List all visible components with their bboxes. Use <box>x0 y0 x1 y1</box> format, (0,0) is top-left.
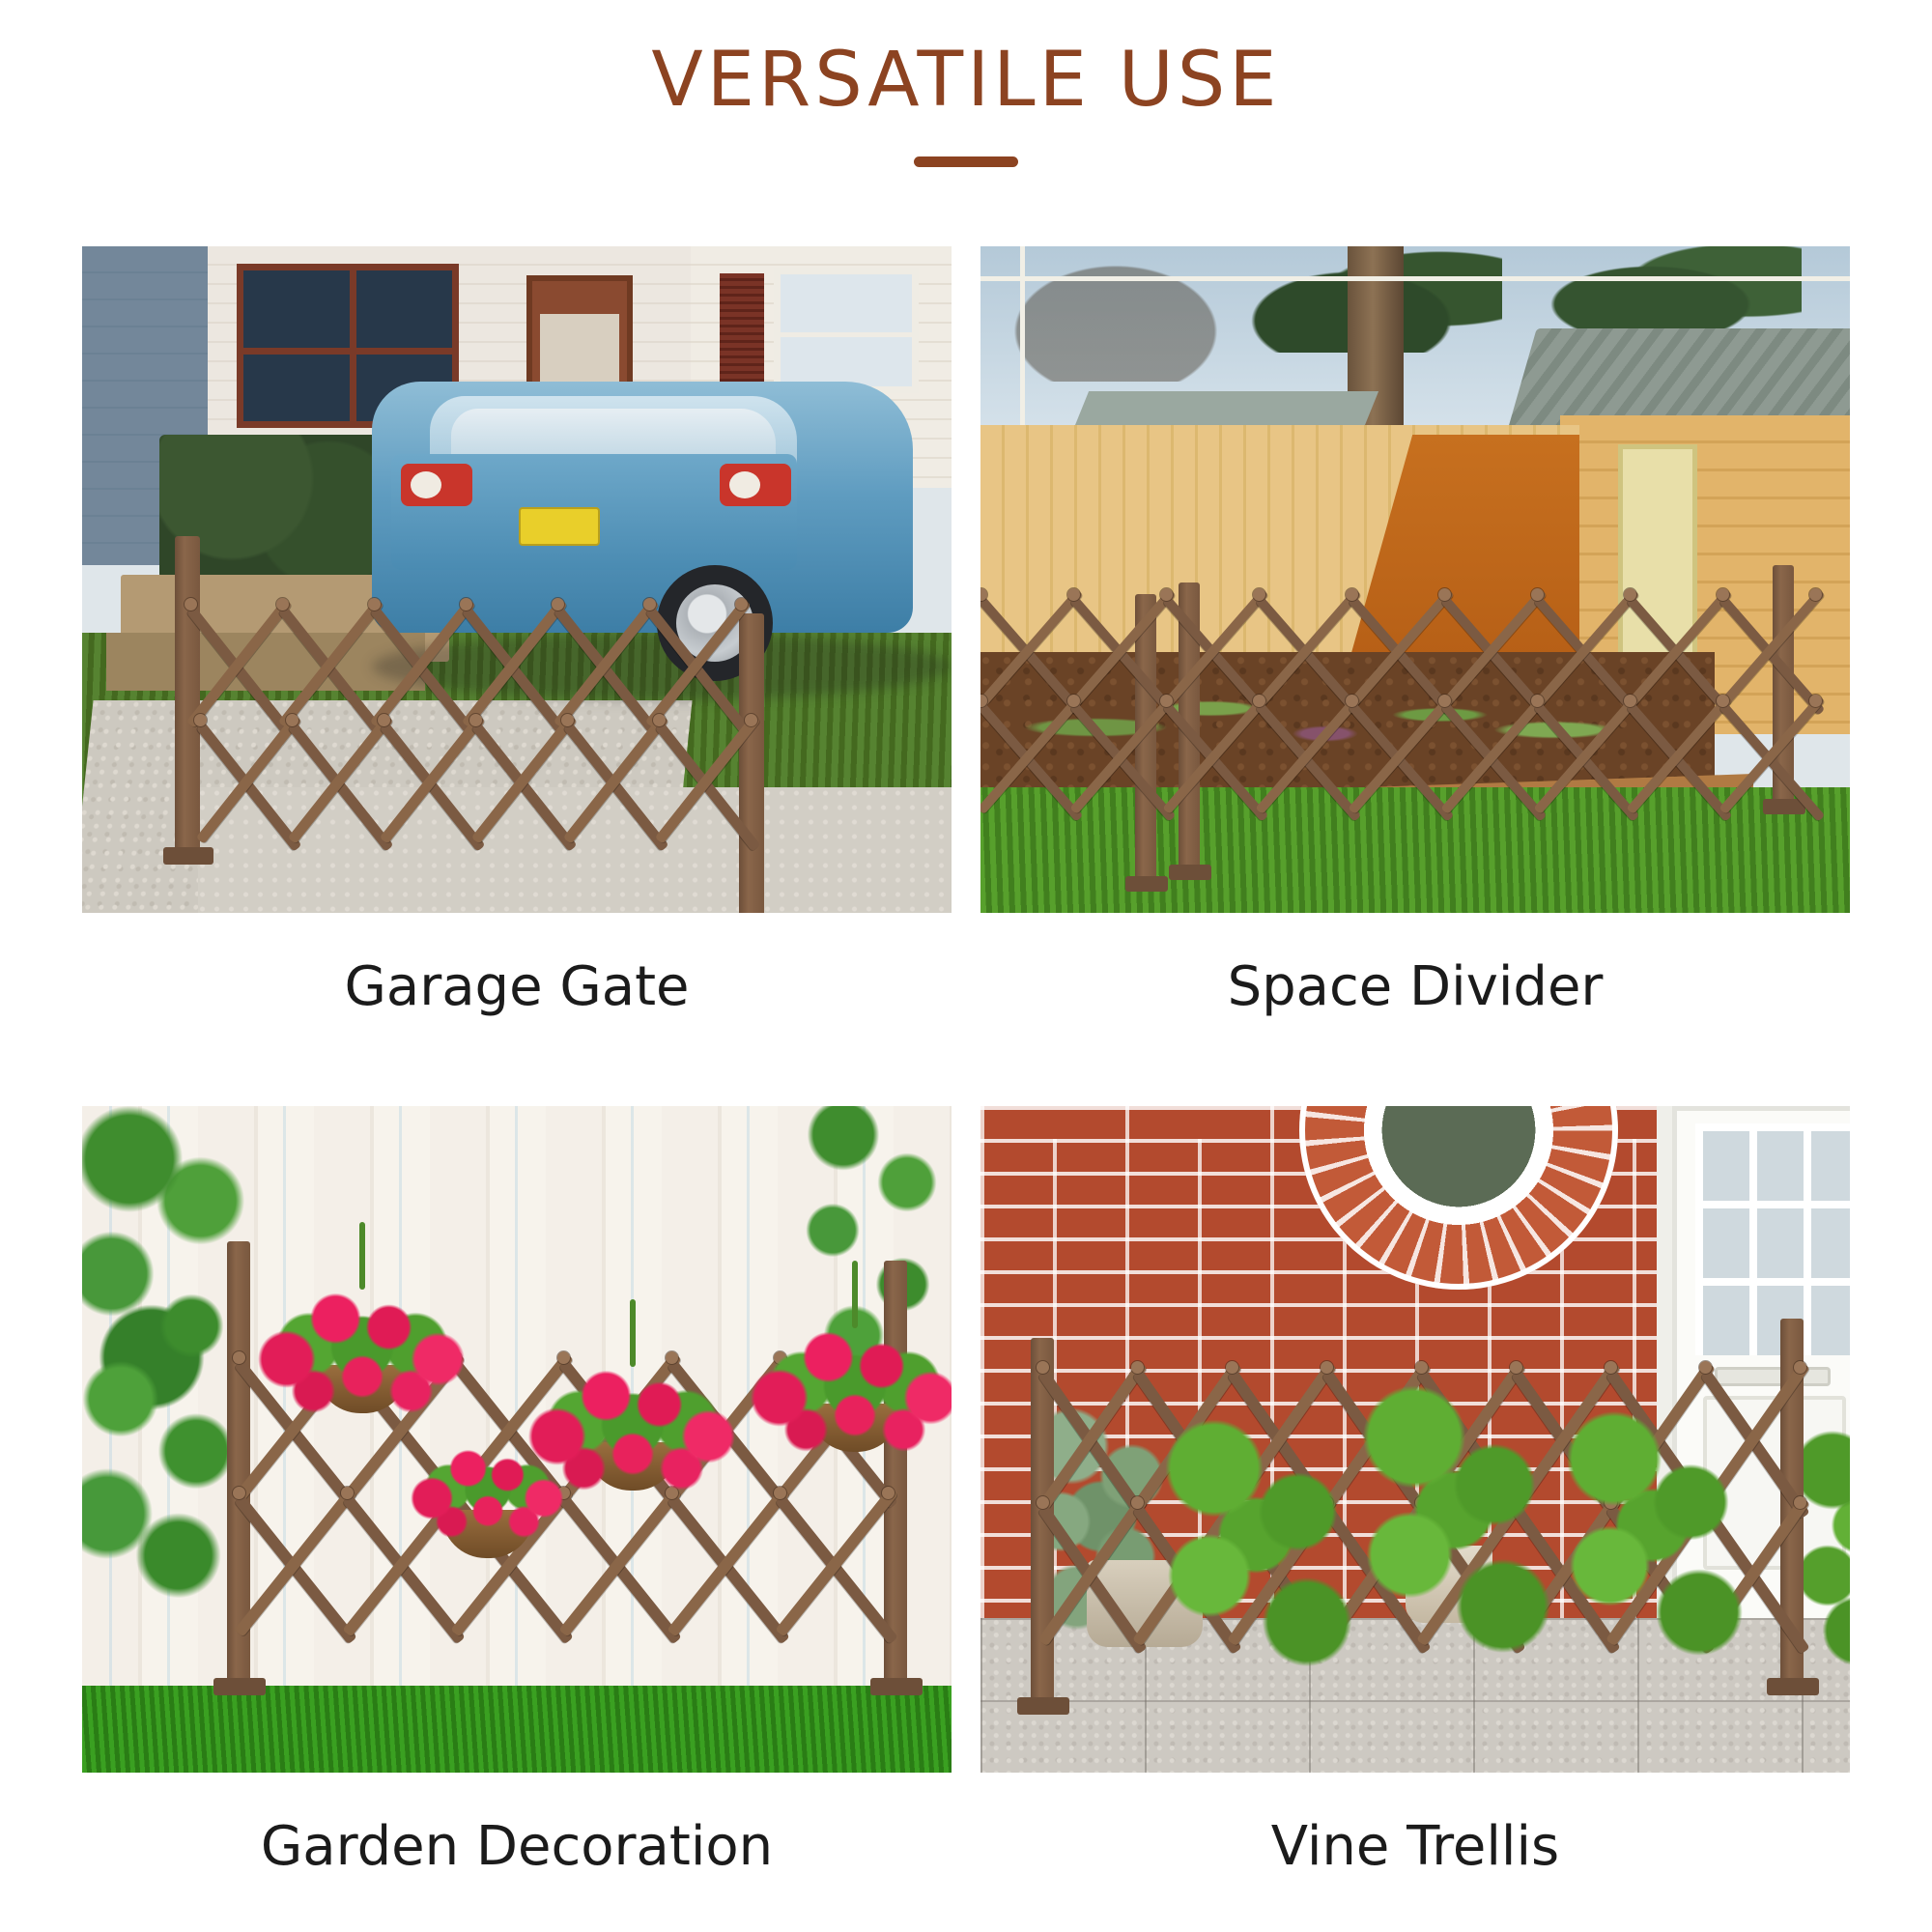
house-window-right <box>774 268 919 393</box>
caption-vine-trellis: Vine Trellis <box>980 1817 1850 1877</box>
climbing-ivy <box>1348 1357 1570 1676</box>
caption-garden-decoration: Garden Decoration <box>82 1817 952 1877</box>
lawn <box>980 787 1850 913</box>
photo-garden-decoration <box>82 1106 952 1773</box>
title-divider <box>914 156 1018 167</box>
car-license-plate <box>519 507 600 546</box>
garden-plants <box>1019 652 1657 778</box>
header: VERSATILE USE <box>0 43 1932 167</box>
bare-tree-branches <box>1000 256 1232 382</box>
climbing-ivy <box>1145 1396 1377 1686</box>
panel-garage-gate: Garage Gate <box>82 246 952 1017</box>
car-taillight-right <box>720 464 791 506</box>
car-wheel <box>657 565 773 681</box>
door-glass-panes <box>1695 1123 1850 1355</box>
hedge-left <box>159 435 401 580</box>
panel-garden-decoration: Garden Decoration <box>82 1106 952 1877</box>
panel-vine-trellis: Vine Trellis <box>980 1106 1850 1877</box>
panel-grid: Garage Gate <box>82 246 1850 1776</box>
grass <box>82 1686 952 1773</box>
mail-slot <box>1715 1367 1831 1386</box>
caption-garage-gate: Garage Gate <box>82 957 952 1017</box>
garage-door <box>1618 444 1697 657</box>
photo-garage-gate <box>82 246 952 913</box>
panel-space-divider: Space Divider <box>980 246 1850 1017</box>
photo-space-divider <box>980 246 1850 913</box>
basket-flowers <box>744 1311 952 1456</box>
infographic-page: VERSATILE USE <box>0 0 1932 1932</box>
caption-space-divider: Space Divider <box>980 957 1850 1017</box>
shrub-right <box>1782 1425 1850 1676</box>
basket-flowers <box>406 1435 570 1541</box>
climbing-ivy <box>1550 1386 1763 1676</box>
car-taillight-left <box>401 464 472 506</box>
basket-flowers <box>251 1272 473 1417</box>
driveway-front <box>198 787 952 913</box>
window-shutter <box>720 273 764 389</box>
photo-vine-trellis <box>980 1106 1850 1773</box>
page-title: VERSATILE USE <box>0 43 1932 118</box>
